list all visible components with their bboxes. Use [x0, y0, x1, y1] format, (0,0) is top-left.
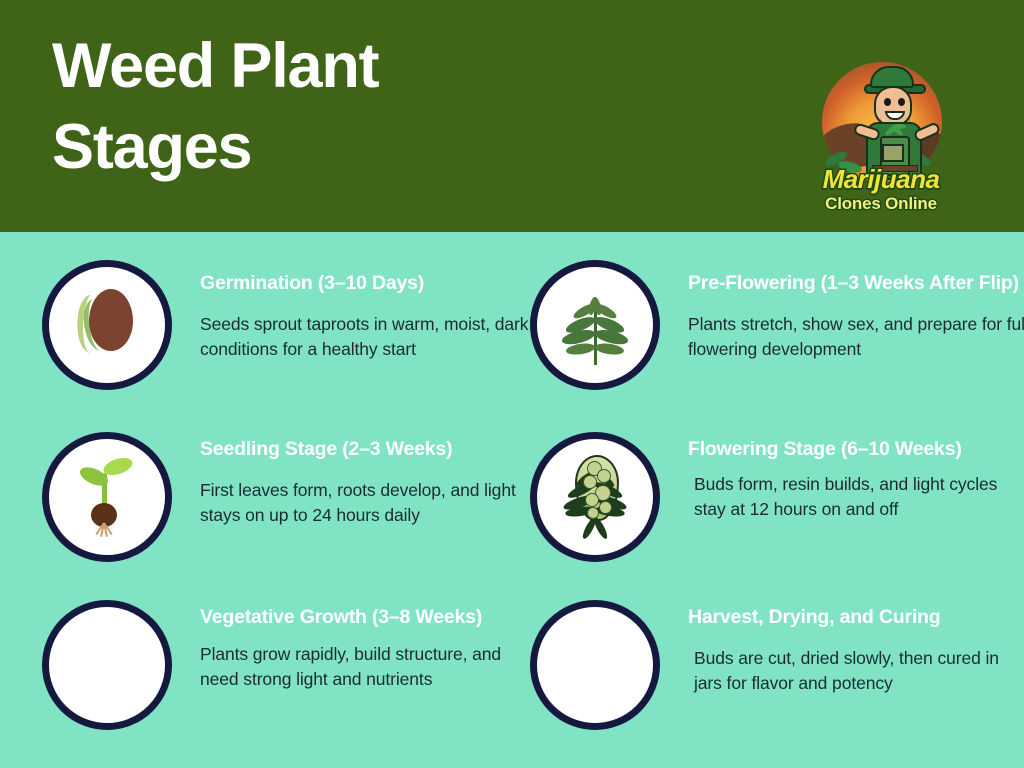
stage-title: Seedling Stage (2–3 Weeks): [200, 436, 542, 464]
stage-item: Vegetative Growth (3–8 Weeks) Plants gro…: [42, 600, 542, 730]
stage-text: Flowering Stage (6–10 Weeks) Buds form, …: [660, 432, 1024, 521]
stages-section: Germination (3–10 Days) Seeds sprout tap…: [0, 232, 1024, 768]
stage-title: Germination (3–10 Days): [200, 270, 542, 298]
stage-text: Germination (3–10 Days) Seeds sprout tap…: [172, 260, 542, 361]
stage-description: Buds are cut, dried slowly, then cured i…: [688, 646, 1024, 696]
stage-description: Plants grow rapidly, build structure, an…: [200, 642, 542, 692]
logo-wordmark: Marijuana Clones Online: [800, 166, 962, 212]
stage-item: Germination (3–10 Days) Seeds sprout tap…: [42, 260, 542, 390]
stage-item: Flowering Stage (6–10 Weeks) Buds form, …: [530, 432, 1024, 562]
stage-title: Harvest, Drying, and Curing: [688, 604, 1024, 632]
page-title: Weed Plant Stages: [52, 26, 692, 187]
flowering-bud-icon: [530, 432, 660, 562]
stage-text: Pre-Flowering (1–3 Weeks After Flip) Pla…: [660, 260, 1024, 361]
logo-word-main: Marijuana: [800, 166, 962, 192]
logo-word-sub: Clones Online: [800, 195, 962, 212]
harvest-field-photo-icon: [530, 600, 660, 730]
stage-title: Pre-Flowering (1–3 Weeks After Flip): [688, 270, 1024, 298]
stage-text: Harvest, Drying, and Curing Buds are cut…: [660, 600, 1024, 695]
stage-description: Seeds sprout taproots in warm, moist, da…: [200, 312, 542, 362]
stage-description: Plants stretch, show sex, and prepare fo…: [688, 312, 1024, 362]
cannabis-plant-icon: [530, 260, 660, 390]
seedling-sprout-icon: [42, 432, 172, 562]
stage-title: Vegetative Growth (3–8 Weeks): [200, 604, 542, 632]
stage-text: Seedling Stage (2–3 Weeks) First leaves …: [172, 432, 542, 527]
stage-item: Harvest, Drying, and Curing Buds are cut…: [530, 600, 1024, 730]
stage-item: Seedling Stage (2–3 Weeks) First leaves …: [42, 432, 542, 562]
brand-logo[interactable]: Marijuana Clones Online: [800, 48, 962, 216]
stage-description: First leaves form, roots develop, and li…: [200, 478, 542, 528]
stage-text: Vegetative Growth (3–8 Weeks) Plants gro…: [172, 600, 542, 691]
stages-column-right: Pre-Flowering (1–3 Weeks After Flip) Pla…: [530, 232, 1024, 768]
stage-description: Buds form, resin builds, and light cycle…: [688, 472, 1024, 522]
green-canopy-photo-icon: [42, 600, 172, 730]
stages-column-left: Germination (3–10 Days) Seeds sprout tap…: [42, 232, 542, 768]
infographic-poster: Weed Plant Stages: [0, 0, 1024, 768]
stage-item: Pre-Flowering (1–3 Weeks After Flip) Pla…: [530, 260, 1024, 390]
stage-title: Flowering Stage (6–10 Weeks): [688, 436, 1024, 464]
germinating-seed-icon: [42, 260, 172, 390]
header-banner: Weed Plant Stages: [0, 0, 1024, 232]
